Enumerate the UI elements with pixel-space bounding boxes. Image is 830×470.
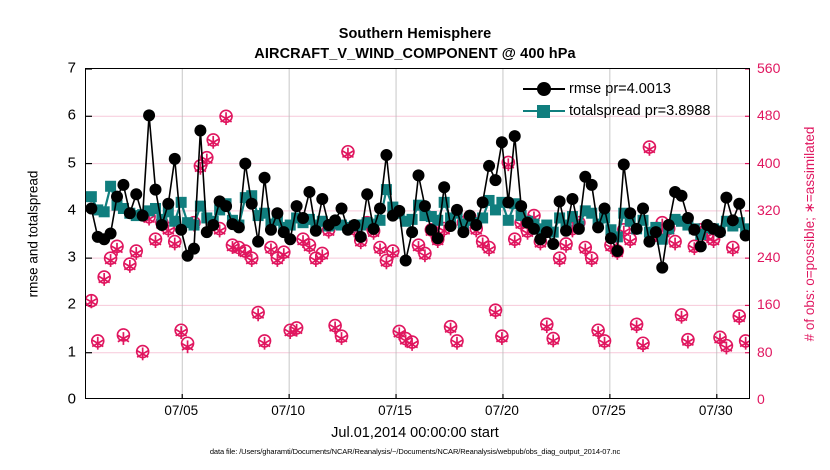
y-tick-right-0: 0 xyxy=(757,391,803,407)
chart-page: Southern Hemisphere AIRCRAFT_V_WIND_COMP… xyxy=(0,0,830,470)
x-tick-07/10: 07/10 xyxy=(271,403,305,418)
legend-label-totalspread: totalspread pr=3.8988 xyxy=(569,102,710,120)
data-file-label: data file: /Users/gharamti/Documents/NCA… xyxy=(0,447,830,456)
title-line-1: Southern Hemisphere xyxy=(0,24,830,44)
y-tick-right-160: 160 xyxy=(757,296,803,312)
y-axis-right-label: # of obs: o=possible; ∗=assimilated xyxy=(802,127,818,342)
y-tick-left-2: 2 xyxy=(36,296,76,313)
y-tick-left-0: 0 xyxy=(36,391,76,408)
legend-marker-square-icon xyxy=(523,102,565,120)
y-tick-left-7: 7 xyxy=(36,60,76,77)
chart-legend: rmse pr=4.0013 totalspread pr=3.8988 xyxy=(523,78,710,122)
x-axis-label: Jul.01,2014 00:00:00 start xyxy=(0,425,830,441)
y-tick-right-560: 560 xyxy=(757,60,803,76)
y-tick-right-80: 80 xyxy=(757,344,803,360)
y-tick-left-3: 3 xyxy=(36,249,76,266)
y-tick-left-1: 1 xyxy=(36,343,76,360)
x-tick-07/30: 07/30 xyxy=(699,403,733,418)
y-tick-right-320: 320 xyxy=(757,202,803,218)
legend-label-rmse: rmse pr=4.0013 xyxy=(569,80,671,98)
x-tick-07/15: 07/15 xyxy=(378,403,412,418)
y-tick-right-400: 400 xyxy=(757,155,803,171)
legend-item-rmse: rmse pr=4.0013 xyxy=(523,78,710,100)
x-tick-07/25: 07/25 xyxy=(592,403,626,418)
y-tick-left-6: 6 xyxy=(36,107,76,124)
x-tick-07/20: 07/20 xyxy=(485,403,519,418)
y-tick-left-5: 5 xyxy=(36,154,76,171)
y-tick-right-240: 240 xyxy=(757,249,803,265)
y-tick-left-4: 4 xyxy=(36,201,76,218)
page-title: Southern Hemisphere AIRCRAFT_V_WIND_COMP… xyxy=(0,24,830,64)
legend-marker-circle-icon xyxy=(523,80,565,98)
y-axis-left-label: rmse and totalspread xyxy=(26,171,41,298)
title-line-2: AIRCRAFT_V_WIND_COMPONENT @ 400 hPa xyxy=(0,44,830,64)
x-tick-07/05: 07/05 xyxy=(164,403,198,418)
y-tick-right-480: 480 xyxy=(757,107,803,123)
legend-item-totalspread: totalspread pr=3.8988 xyxy=(523,100,710,122)
